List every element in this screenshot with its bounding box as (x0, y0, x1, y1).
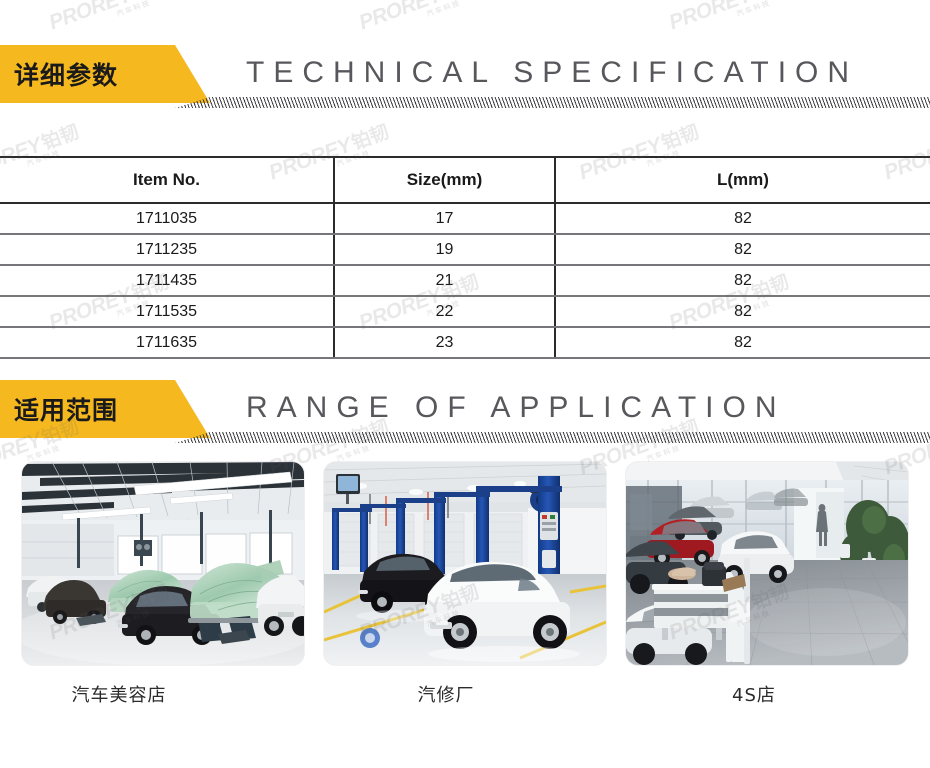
cell-length: 82 (555, 296, 930, 327)
watermark: PROREY铂韧汽车科技 (355, 0, 485, 42)
application-gallery: 汽车美容店 (0, 462, 930, 722)
watermark: PROREY铂韧汽车科技 (45, 0, 175, 42)
cell-item-no: 1711235 (0, 234, 334, 265)
cell-item-no: 1711035 (0, 203, 334, 234)
section-tag-technical: 详细参数 (0, 45, 210, 103)
cell-size: 22 (334, 296, 555, 327)
column-header-size: Size(mm) (334, 157, 555, 203)
table-row: 1711435 21 82 (0, 265, 930, 296)
cell-size: 21 (334, 265, 555, 296)
cell-item-no: 1711535 (0, 296, 334, 327)
column-header-item-no: Item No. (0, 157, 334, 203)
section-tag-label-application: 适用范围 (0, 391, 118, 427)
table-row: 1711035 17 82 (0, 203, 930, 234)
section-header-technical: 详细参数 TECHNICAL SPECIFICATION (0, 45, 930, 117)
section-tag-label-technical: 详细参数 (0, 56, 118, 92)
application-caption-detailing: 汽车美容店 (72, 681, 167, 707)
table-row: 1711635 23 82 (0, 327, 930, 358)
photo-repair-shop (324, 462, 606, 665)
cell-item-no: 1711635 (0, 327, 334, 358)
spec-table-body: 1711035 17 82 1711235 19 82 1711435 21 8… (0, 203, 930, 358)
cell-size: 23 (334, 327, 555, 358)
application-caption-dealership: 4S店 (732, 681, 776, 707)
section-header-application: 适用范围 RANGE OF APPLICATION (0, 380, 930, 452)
application-card-repair-shop: 汽修厂 (324, 462, 606, 722)
photo-auto-detailing-shop (22, 462, 304, 665)
application-caption-repair-shop: 汽修厂 (418, 681, 475, 707)
section-title-application: RANGE OF APPLICATION (246, 382, 786, 434)
section-tag-application: 适用范围 (0, 380, 210, 438)
application-card-detailing: 汽车美容店 (22, 462, 304, 722)
cell-size: 19 (334, 234, 555, 265)
cell-item-no: 1711435 (0, 265, 334, 296)
cell-length: 82 (555, 203, 930, 234)
cell-length: 82 (555, 265, 930, 296)
table-row: 1711535 22 82 (0, 296, 930, 327)
cell-size: 17 (334, 203, 555, 234)
section-title-technical: TECHNICAL SPECIFICATION (246, 47, 858, 99)
column-header-length: L(mm) (555, 157, 930, 203)
cell-length: 82 (555, 327, 930, 358)
spec-table-wrap: Item No. Size(mm) L(mm) 1711035 17 82 17… (0, 156, 930, 359)
application-card-dealership: 4S店 (626, 462, 908, 722)
table-header-row: Item No. Size(mm) L(mm) (0, 157, 930, 203)
cell-length: 82 (555, 234, 930, 265)
spec-table: Item No. Size(mm) L(mm) 1711035 17 82 17… (0, 156, 930, 359)
watermark: PROREY铂韧汽车科技 (665, 0, 795, 42)
table-row: 1711235 19 82 (0, 234, 930, 265)
photo-dealership-showroom (626, 462, 908, 665)
